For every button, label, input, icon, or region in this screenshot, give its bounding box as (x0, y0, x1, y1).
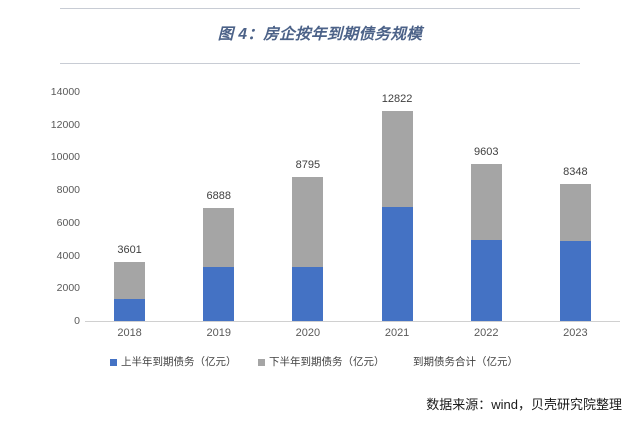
legend-label: 下半年到期债务（亿元） (269, 354, 385, 370)
bar-segment-first-half-2019[interactable] (203, 267, 234, 321)
x-axis-tick-label-2019: 2019 (189, 327, 248, 339)
chart-container: 14000120001000080006000400020000 3601688… (0, 78, 640, 348)
legend-item-3[interactable]: 到期债务合计（亿元） (413, 354, 518, 370)
header-rule-bottom (60, 63, 580, 64)
x-axis-tick-label-2023: 2023 (546, 327, 605, 339)
y-axis-tick-label: 12000 (32, 119, 80, 131)
bar-total-label-2020: 8795 (278, 159, 337, 171)
bar-total-label-2023: 8348 (546, 166, 605, 178)
y-axis-tick-label: 8000 (32, 184, 80, 196)
figure-header: 图 4：房企按年到期债务规模 (60, 8, 580, 64)
y-axis-tick-label: 6000 (32, 217, 80, 229)
header-rule-top (60, 8, 580, 9)
bar-segment-second-half-2020[interactable] (292, 177, 323, 267)
x-axis-tick-label-2018: 2018 (100, 327, 159, 339)
legend-swatch-icon (110, 359, 117, 366)
bar-total-label-2018: 3601 (100, 244, 159, 256)
bar-total-label-2022: 9603 (457, 146, 516, 158)
chart-legend: 上半年到期债务（亿元）下半年到期债务（亿元）到期债务合计（亿元） (0, 354, 640, 372)
y-axis-ticks: 14000120001000080006000400020000 (20, 92, 80, 321)
legend-label: 上半年到期债务（亿元） (121, 354, 237, 370)
y-axis-tick-label: 10000 (32, 151, 80, 163)
legend-swatch-icon (258, 359, 265, 366)
bar-segment-second-half-2022[interactable] (471, 164, 502, 240)
source-note: 数据来源：wind，贝壳研究院整理 (426, 394, 622, 413)
bar-segment-first-half-2023[interactable] (560, 241, 591, 321)
plot-area: 3601688887951282296038348 (85, 92, 620, 321)
bar-segment-first-half-2018[interactable] (114, 299, 145, 321)
bar-segment-first-half-2020[interactable] (292, 267, 323, 321)
x-axis-tick-label-2020: 2020 (278, 327, 337, 339)
legend-item-1[interactable]: 上半年到期债务（亿元） (110, 354, 237, 370)
legend-label: 到期债务合计（亿元） (413, 354, 518, 370)
y-axis-tick-label: 4000 (32, 250, 80, 262)
bar-segment-second-half-2018[interactable] (114, 262, 145, 299)
y-axis-tick-label: 14000 (32, 86, 80, 98)
bar-total-label-2021: 12822 (368, 93, 427, 105)
legend-item-2[interactable]: 下半年到期债务（亿元） (258, 354, 385, 370)
bar-segment-second-half-2023[interactable] (560, 184, 591, 240)
chart-title: 图 4：房企按年到期债务规模 (60, 22, 580, 44)
x-axis-tick-label-2022: 2022 (457, 327, 516, 339)
bar-segment-second-half-2019[interactable] (203, 208, 234, 267)
bar-segment-second-half-2021[interactable] (382, 111, 413, 207)
x-axis-line (85, 321, 620, 322)
y-axis-tick-label: 0 (32, 315, 80, 327)
bar-segment-first-half-2021[interactable] (382, 207, 413, 321)
bar-total-label-2019: 6888 (189, 190, 248, 202)
bar-segment-first-half-2022[interactable] (471, 240, 502, 321)
y-axis-tick-label: 2000 (32, 282, 80, 294)
x-axis-tick-label-2021: 2021 (368, 327, 427, 339)
